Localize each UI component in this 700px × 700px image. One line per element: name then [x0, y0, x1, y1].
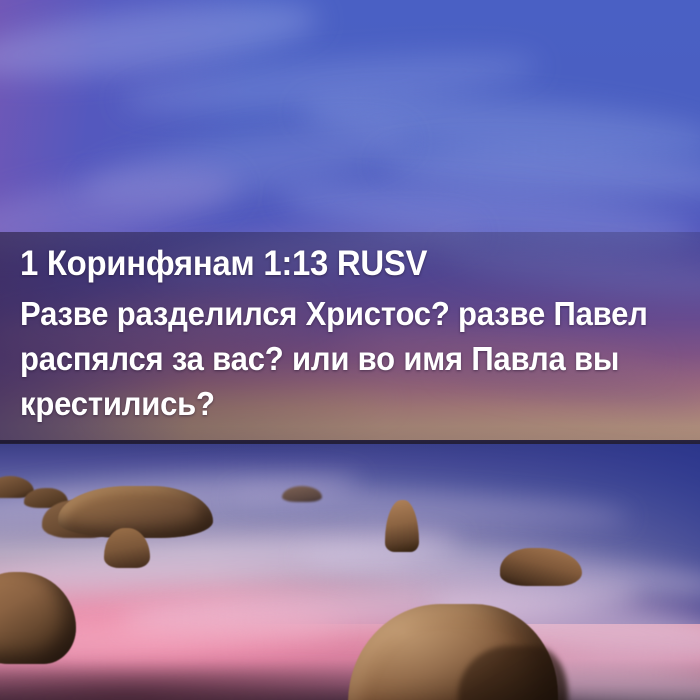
verse-reference: 1 Коринфянам 1:13 RUSV	[20, 244, 642, 284]
wet-sand-shadow	[0, 668, 380, 700]
verse-text: Разве разделился Христос? разве Павел ра…	[20, 291, 700, 426]
verse-text-block: 1 Коринфянам 1:13 RUSV Разве разделился …	[0, 232, 700, 443]
verse-image-canvas: 1 Коринфянам 1:13 RUSV Разве разделился …	[0, 0, 700, 700]
